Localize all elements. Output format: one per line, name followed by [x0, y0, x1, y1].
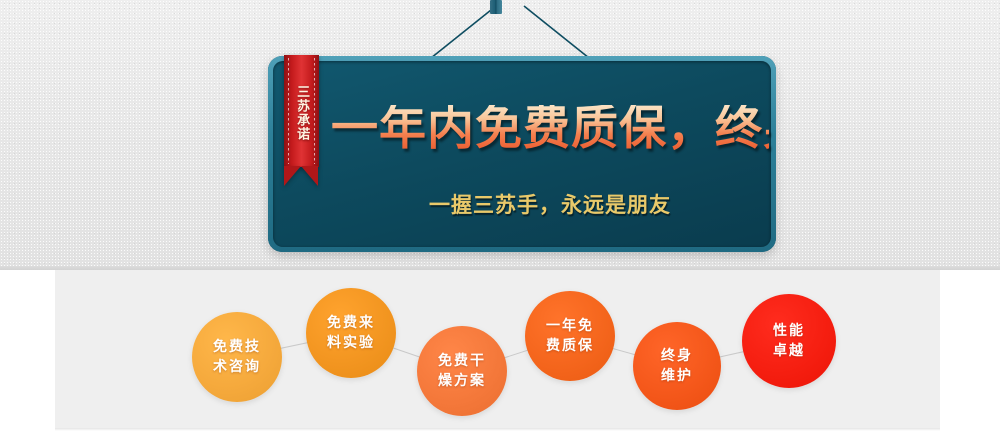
feature-circle-label: 一年免费质保 [546, 316, 594, 357]
ribbon-tail-notch-icon [284, 166, 318, 186]
banner-subtitle: 一握三苏手，永远是朋友 [331, 189, 769, 219]
banner-headline: 一年内免费质保，终身维护 [331, 105, 769, 152]
hanging-hook-icon [490, 0, 502, 14]
feature-circle-label-line1: 免费来 [327, 313, 375, 333]
feature-circle-label-line2: 料实验 [327, 333, 375, 353]
feature-circle-label-line1: 一年免 [546, 316, 594, 336]
feature-circle-2[interactable]: 免费来料实验 [306, 288, 396, 378]
feature-circle-label-line1: 性能 [773, 321, 805, 341]
feature-circle-1[interactable]: 免费技术咨询 [192, 312, 282, 402]
feature-circle-label: 免费来料实验 [327, 313, 375, 354]
banner-inner-board: 三苏承诺 一年内免费质保，终身维护 一握三苏手，永远是朋友 [273, 61, 771, 247]
feature-circle-3[interactable]: 免费干燥方案 [417, 326, 507, 416]
feature-circle-5[interactable]: 终身维护 [633, 322, 721, 410]
feature-circle-label: 免费干燥方案 [438, 351, 486, 392]
feature-circle-label-line2: 术咨询 [213, 357, 261, 377]
feature-circle-label-line1: 终身 [661, 346, 693, 366]
feature-circle-label-line2: 费质保 [546, 336, 594, 356]
feature-circle-6[interactable]: 性能卓越 [742, 294, 836, 388]
promise-banner: 三苏承诺 一年内免费质保，终身维护 一握三苏手，永远是朋友 [268, 56, 776, 252]
feature-circle-label-line1: 免费技 [213, 337, 261, 357]
feature-circle-label-line2: 燥方案 [438, 371, 486, 391]
feature-circle-4[interactable]: 一年免费质保 [525, 291, 615, 381]
feature-circle-label: 终身维护 [661, 346, 693, 387]
ribbon-label: 三苏承诺 [284, 61, 319, 165]
features-panel-shadow [55, 428, 940, 431]
feature-circle-label-line2: 卓越 [773, 341, 805, 361]
feature-circle-label: 免费技术咨询 [213, 337, 261, 378]
feature-circle-label: 性能卓越 [773, 321, 805, 362]
feature-circle-label-line2: 维护 [661, 366, 693, 386]
ribbon-badge: 三苏承诺 [284, 55, 319, 185]
feature-circle-label-line1: 免费干 [438, 351, 486, 371]
